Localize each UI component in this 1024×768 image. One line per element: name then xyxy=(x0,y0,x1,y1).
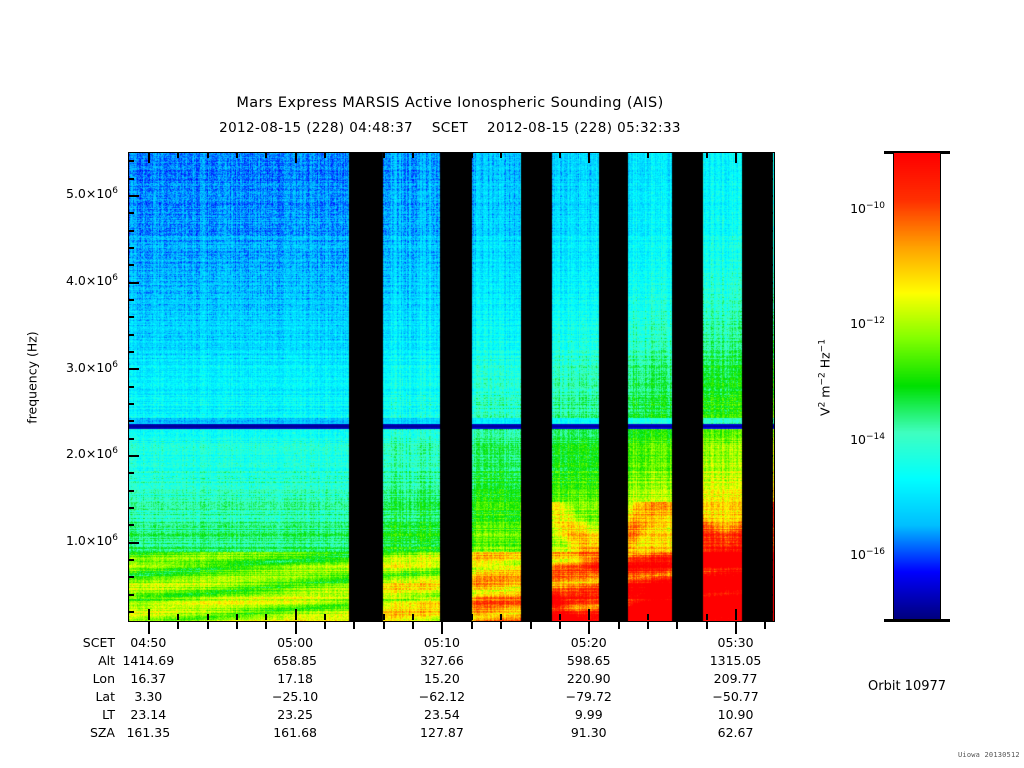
page-title: Mars Express MARSIS Active Ionospheric S… xyxy=(0,95,900,111)
colorbar-cap-bottom xyxy=(884,619,950,622)
x-minor-tick-outer xyxy=(559,621,561,629)
colorbar-canvas xyxy=(893,152,941,620)
x-minor-tick-outer xyxy=(764,621,766,629)
x-minor-tick-outer xyxy=(530,621,532,629)
orbit-label: Orbit 10977 xyxy=(868,679,946,694)
spectrogram-canvas xyxy=(129,153,774,621)
colorbar-tick-label-0: 10−10 xyxy=(797,201,885,216)
x-minor-tick-outer xyxy=(236,621,238,629)
x-minor-tick-outer xyxy=(207,621,209,629)
x-major-tick-outer xyxy=(295,621,297,634)
ephemeris-table: SCET04:5005:0005:1005:2005:30Alt1414.696… xyxy=(0,634,115,742)
colorbar-tick-label-3: 10−16 xyxy=(797,547,885,562)
colorbar-tick-label-1: 10−12 xyxy=(797,316,885,331)
x-minor-tick-outer xyxy=(676,621,678,629)
x-minor-tick-outer xyxy=(706,621,708,629)
y-axis-label: frequency (Hz) xyxy=(25,308,40,448)
x-major-tick-outer xyxy=(735,621,737,634)
table-row: LT23.1423.2523.549.9910.90 xyxy=(0,706,115,724)
x-minor-tick-outer xyxy=(177,621,179,629)
x-minor-tick-outer xyxy=(324,621,326,629)
table-row: Lon16.3717.1815.20220.90209.77 xyxy=(0,670,115,688)
x-minor-tick-outer xyxy=(618,621,620,629)
watermark-label: Uiowa 20130512 xyxy=(958,751,1020,759)
x-major-tick-outer xyxy=(588,621,590,634)
table-row: Lat3.30−25.10−62.12−79.72−50.77 xyxy=(0,688,115,706)
y-tick-label-4: 5.0×106 xyxy=(0,186,118,201)
table-row: Alt1414.69658.85327.66598.651315.05 xyxy=(0,652,115,670)
colorbar xyxy=(893,152,941,620)
x-minor-tick-outer xyxy=(500,621,502,629)
table-row: SCET04:5005:0005:1005:2005:30 xyxy=(0,634,115,652)
x-major-tick-outer xyxy=(441,621,443,634)
x-minor-tick-outer xyxy=(647,621,649,629)
x-minor-tick-outer xyxy=(265,621,267,629)
table-row: SZA161.35161.68127.8791.3062.67 xyxy=(0,724,115,742)
spectrogram-plot xyxy=(128,152,775,622)
colorbar-unit-label: V2 m−2 Hz−1 xyxy=(818,298,833,458)
x-minor-tick-outer xyxy=(471,621,473,629)
x-minor-tick-outer xyxy=(383,621,385,629)
x-minor-tick-outer xyxy=(353,621,355,629)
y-tick-label-3: 4.0×106 xyxy=(0,273,118,288)
y-tick-label-2: 3.0×106 xyxy=(0,360,118,375)
time-range-subtitle: 2012-08-15 (228) 04:48:37 SCET 2012-08-1… xyxy=(0,120,900,136)
y-tick-label-0: 1.0×106 xyxy=(0,533,118,548)
colorbar-tick-label-2: 10−14 xyxy=(797,432,885,447)
x-minor-tick-outer xyxy=(412,621,414,629)
y-tick-label-1: 2.0×106 xyxy=(0,446,118,461)
x-major-tick-outer xyxy=(148,621,150,634)
